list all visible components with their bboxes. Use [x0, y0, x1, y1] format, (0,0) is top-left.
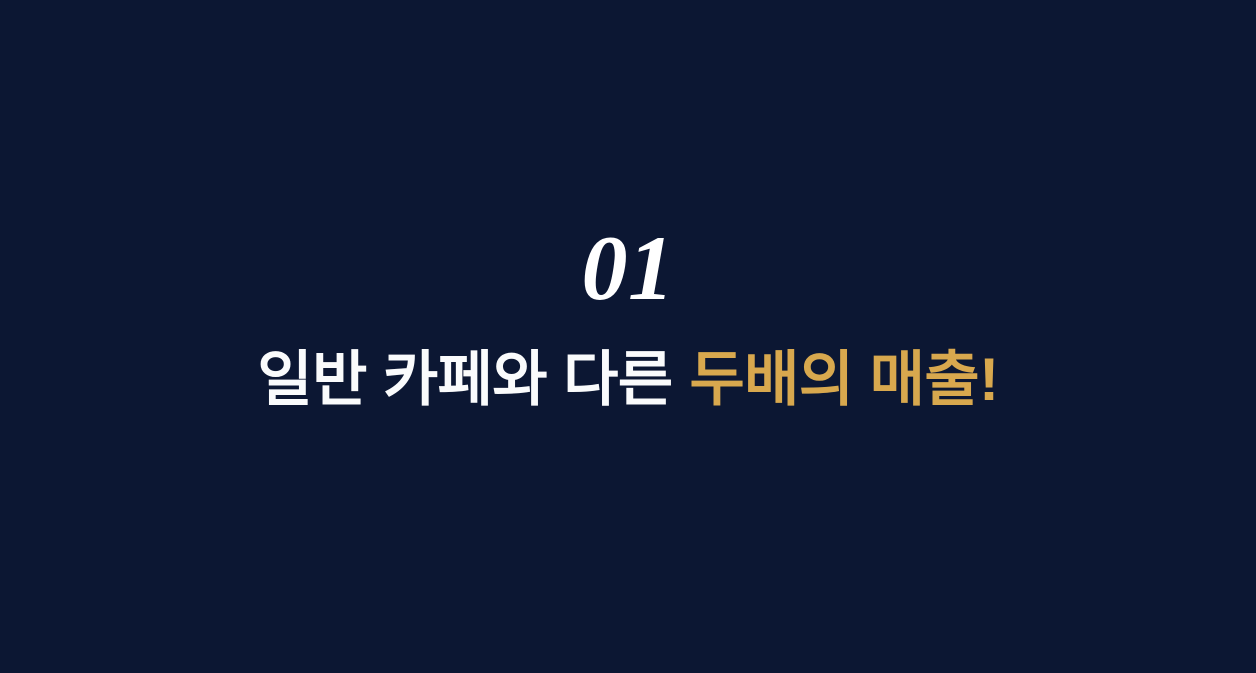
headline-segment-white: 일반 카페와 다른: [257, 346, 672, 413]
presentation-slide: 01 일반 카페와 다른두배의 매출!: [0, 0, 1256, 673]
slide-headline: 일반 카페와 다른두배의 매출!: [0, 345, 1256, 414]
headline-segment-highlight: 두배의 매출!: [689, 346, 998, 413]
section-number: 01: [0, 222, 1256, 314]
